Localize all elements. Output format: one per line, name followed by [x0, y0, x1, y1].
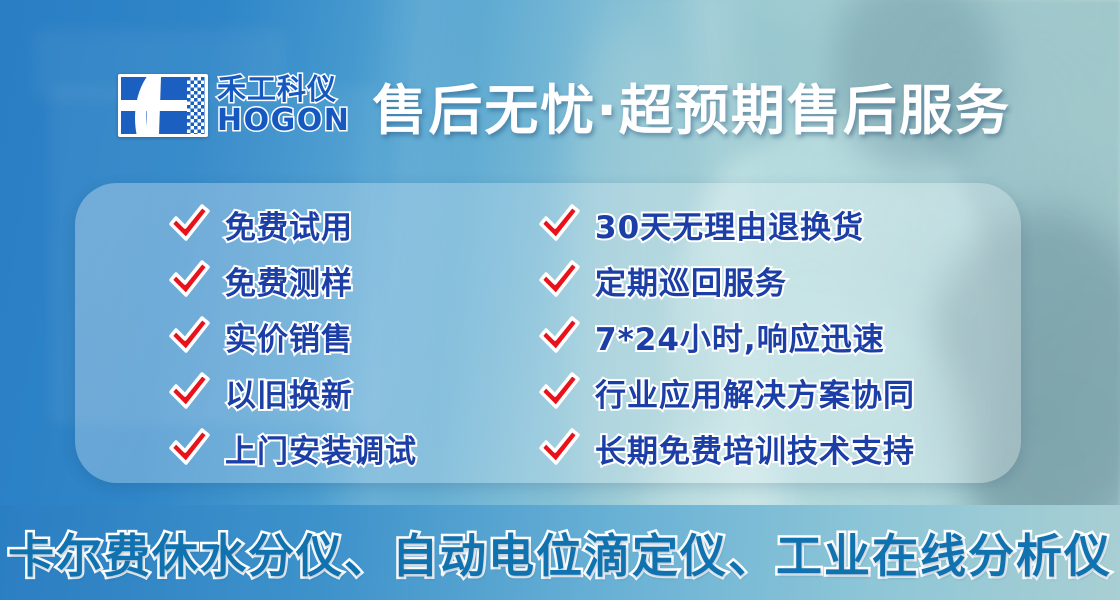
- list-item-label: 实价销售: [225, 314, 353, 359]
- footer-products-text: 卡尔费休水分仪、自动电位滴定仪、工业在线分析仪: [0, 505, 1120, 600]
- list-item: 定期巡回服务: [537, 256, 1007, 304]
- logo-vertical-bar: [146, 77, 161, 134]
- red-check-icon: [167, 427, 211, 469]
- hogon-flag-logo-icon: [118, 74, 208, 137]
- list-item: 实价销售: [167, 312, 537, 360]
- brand-name-en: HOGON: [217, 106, 350, 136]
- red-check-icon: [537, 259, 581, 301]
- red-check-icon: [537, 315, 581, 357]
- red-check-icon: [167, 203, 211, 245]
- list-item: 7*24小时,响应迅速: [537, 312, 1007, 360]
- banner-root: 禾工科仪 HOGON 售后无忧·超预期售后服务 免费试用 免费测样: [0, 0, 1120, 600]
- features-left-column: 免费试用 免费测样 实价销售 以旧换新: [167, 183, 537, 483]
- list-item-label: 免费测样: [225, 258, 353, 303]
- list-item: 免费测样: [167, 256, 537, 304]
- list-item-label: 30天无理由退换货: [595, 202, 864, 247]
- list-item-label: 免费试用: [225, 202, 353, 247]
- list-item: 以旧换新: [167, 368, 537, 416]
- list-item: 行业应用解决方案协同: [537, 368, 1007, 416]
- list-item-label: 行业应用解决方案协同: [595, 370, 915, 415]
- list-item-label: 上门安装调试: [225, 426, 417, 471]
- logo-inner: [121, 77, 205, 134]
- list-item: 上门安装调试: [167, 424, 537, 472]
- brand-logo: 禾工科仪 HOGON: [118, 74, 350, 137]
- page-title: 售后无忧·超预期售后服务: [372, 66, 1011, 145]
- list-item-label: 7*24小时,响应迅速: [595, 314, 885, 359]
- red-check-icon: [537, 371, 581, 413]
- features-columns: 免费试用 免费测样 实价销售 以旧换新: [75, 183, 1021, 483]
- logo-checker-edge: [187, 77, 205, 134]
- list-item-label: 定期巡回服务: [595, 258, 787, 303]
- red-check-icon: [537, 427, 581, 469]
- features-right-column: 30天无理由退换货 定期巡回服务 7*24小时,响应迅速 行业应用解决方案协同: [537, 183, 1007, 483]
- list-item: 长期免费培训技术支持: [537, 424, 1007, 472]
- list-item-label: 长期免费培训技术支持: [595, 426, 915, 471]
- red-check-icon: [167, 371, 211, 413]
- red-check-icon: [167, 259, 211, 301]
- brand-name-cn: 禾工科仪: [217, 75, 350, 104]
- list-item: 免费试用: [167, 200, 537, 248]
- list-item: 30天无理由退换货: [537, 200, 1007, 248]
- header: 禾工科仪 HOGON 售后无忧·超预期售后服务: [0, 60, 1120, 150]
- brand-name-block: 禾工科仪 HOGON: [217, 75, 350, 136]
- list-item-label: 以旧换新: [225, 370, 353, 415]
- footer-band: 卡尔费休水分仪、自动电位滴定仪、工业在线分析仪: [0, 505, 1120, 600]
- red-check-icon: [537, 203, 581, 245]
- red-check-icon: [167, 315, 211, 357]
